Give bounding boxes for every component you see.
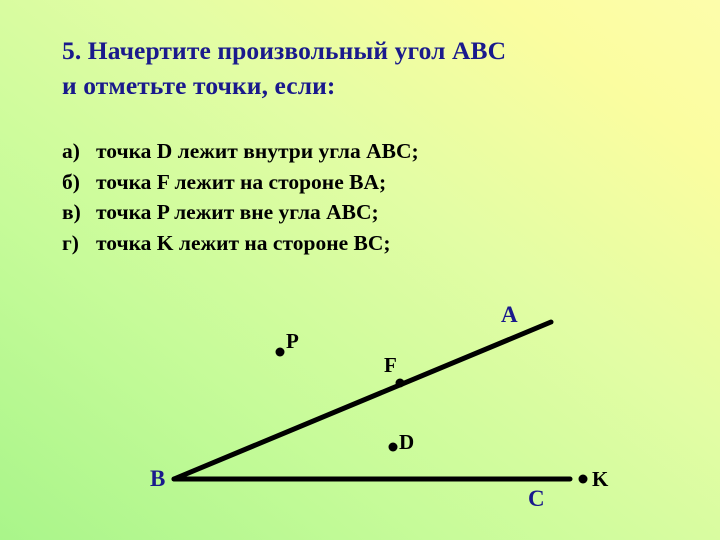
point-d-dot (389, 443, 398, 452)
point-label-p: P (286, 331, 299, 352)
ray-ba (174, 322, 551, 479)
point-label-c: C (528, 487, 545, 510)
angle-diagram: A B C D F K P (0, 0, 720, 540)
point-label-d: D (399, 432, 414, 453)
point-label-b: B (150, 467, 165, 490)
point-f-dot (396, 379, 405, 388)
point-label-a: A (501, 303, 518, 326)
point-label-f: F (384, 355, 397, 376)
point-p-dot (276, 348, 285, 357)
point-label-k: K (592, 469, 608, 490)
angle-diagram-svg (0, 0, 720, 540)
slide-canvas: 5. Начертите произвольный угол ABC и отм… (0, 0, 720, 540)
point-k-dot (579, 475, 588, 484)
